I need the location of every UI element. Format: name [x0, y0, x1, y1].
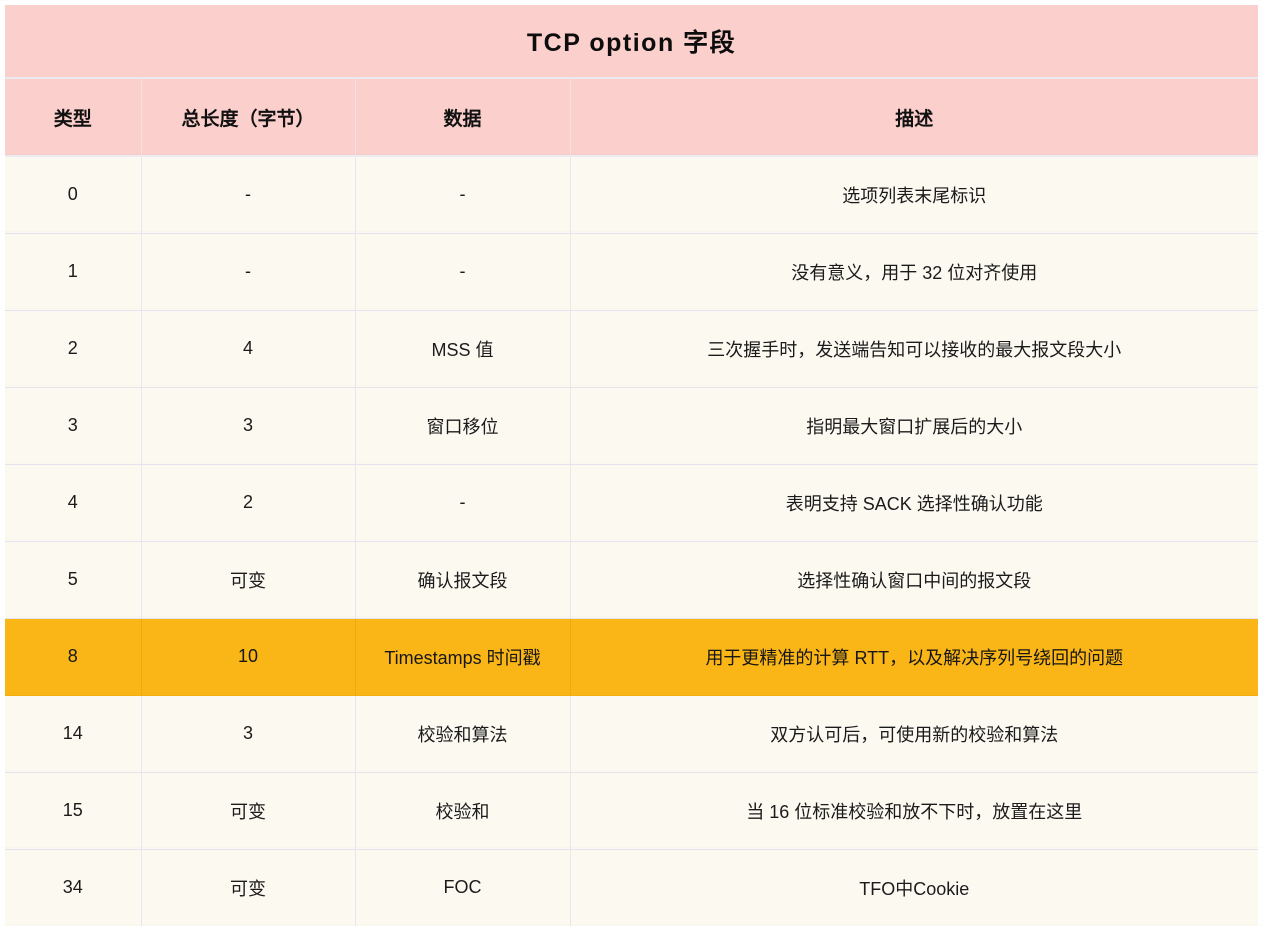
- table-row: 33窗口移位指明最大窗口扩展后的大小: [5, 387, 1258, 464]
- cell-desc: 三次握手时，发送端告知可以接收的最大报文段大小: [570, 310, 1258, 387]
- cell-length: 4: [141, 310, 355, 387]
- cell-desc: 选择性确认窗口中间的报文段: [570, 541, 1258, 618]
- table-row: 1--没有意义，用于 32 位对齐使用: [5, 233, 1258, 310]
- column-header-type: 类型: [5, 78, 141, 156]
- cell-length: 10: [141, 618, 355, 695]
- cell-data: 校验和: [355, 772, 570, 849]
- cell-data: FOC: [355, 849, 570, 926]
- cell-length: 可变: [141, 772, 355, 849]
- cell-desc: 双方认可后，可使用新的校验和算法: [570, 695, 1258, 772]
- table-row: 15可变校验和当 16 位标准校验和放不下时，放置在这里: [5, 772, 1258, 849]
- cell-data: -: [355, 464, 570, 541]
- cell-desc: 用于更精准的计算 RTT，以及解决序列号绕回的问题: [570, 618, 1258, 695]
- table-row: 810Timestamps 时间戳用于更精准的计算 RTT，以及解决序列号绕回的…: [5, 618, 1258, 695]
- table-header-row: 类型总长度（字节）数据描述: [5, 78, 1258, 156]
- cell-type: 1: [5, 233, 141, 310]
- cell-desc: 表明支持 SACK 选择性确认功能: [570, 464, 1258, 541]
- column-header-desc: 描述: [570, 78, 1258, 156]
- table-row: 143校验和算法双方认可后，可使用新的校验和算法: [5, 695, 1258, 772]
- cell-data: -: [355, 156, 570, 233]
- column-header-length: 总长度（字节）: [141, 78, 355, 156]
- cell-desc: 没有意义，用于 32 位对齐使用: [570, 233, 1258, 310]
- cell-type: 14: [5, 695, 141, 772]
- cell-type: 15: [5, 772, 141, 849]
- cell-length: 2: [141, 464, 355, 541]
- table-body: 0--选项列表末尾标识1--没有意义，用于 32 位对齐使用24MSS 值三次握…: [5, 156, 1258, 926]
- table-row: 42-表明支持 SACK 选择性确认功能: [5, 464, 1258, 541]
- table-row: 0--选项列表末尾标识: [5, 156, 1258, 233]
- cell-desc: 当 16 位标准校验和放不下时，放置在这里: [570, 772, 1258, 849]
- cell-data: MSS 值: [355, 310, 570, 387]
- table-title: TCP option 字段: [5, 5, 1258, 78]
- cell-type: 0: [5, 156, 141, 233]
- cell-type: 8: [5, 618, 141, 695]
- cell-length: -: [141, 233, 355, 310]
- cell-type: 34: [5, 849, 141, 926]
- tcp-option-table: TCP option 字段 类型总长度（字节）数据描述 0--选项列表末尾标识1…: [5, 5, 1258, 926]
- cell-length: 3: [141, 387, 355, 464]
- cell-length: -: [141, 156, 355, 233]
- cell-data: -: [355, 233, 570, 310]
- table-row: 24MSS 值三次握手时，发送端告知可以接收的最大报文段大小: [5, 310, 1258, 387]
- cell-length: 3: [141, 695, 355, 772]
- cell-data: 确认报文段: [355, 541, 570, 618]
- cell-length: 可变: [141, 541, 355, 618]
- cell-length: 可变: [141, 849, 355, 926]
- table-row: 34可变FOCTFO中Cookie: [5, 849, 1258, 926]
- table-row: 5可变确认报文段选择性确认窗口中间的报文段: [5, 541, 1258, 618]
- cell-desc: 指明最大窗口扩展后的大小: [570, 387, 1258, 464]
- cell-desc: 选项列表末尾标识: [570, 156, 1258, 233]
- cell-type: 4: [5, 464, 141, 541]
- cell-data: 校验和算法: [355, 695, 570, 772]
- table-sheet: TCP option 字段 类型总长度（字节）数据描述 0--选项列表末尾标识1…: [0, 0, 1263, 933]
- column-header-data: 数据: [355, 78, 570, 156]
- table-title-row: TCP option 字段: [5, 5, 1258, 78]
- cell-desc: TFO中Cookie: [570, 849, 1258, 926]
- table-head: TCP option 字段 类型总长度（字节）数据描述: [5, 5, 1258, 156]
- cell-type: 5: [5, 541, 141, 618]
- cell-type: 3: [5, 387, 141, 464]
- cell-data: 窗口移位: [355, 387, 570, 464]
- cell-type: 2: [5, 310, 141, 387]
- cell-data: Timestamps 时间戳: [355, 618, 570, 695]
